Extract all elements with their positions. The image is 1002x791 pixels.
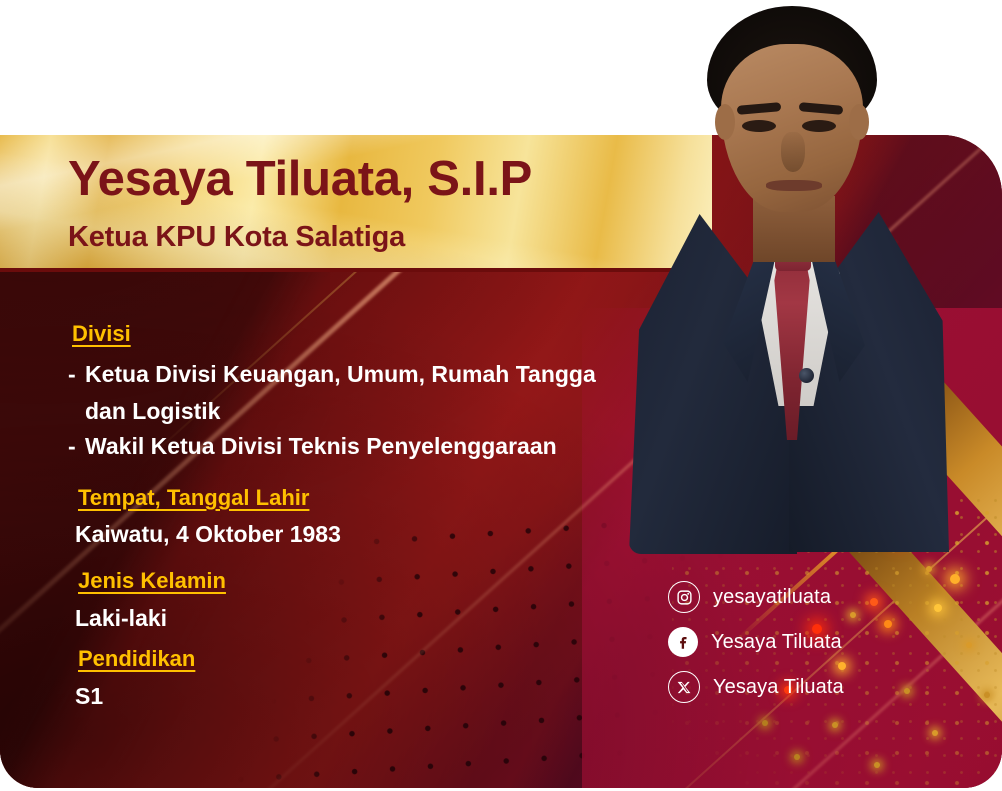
education-value: S1 (75, 683, 103, 710)
photo-ear-right (849, 104, 869, 140)
birth-label: Tempat, Tanggal Lahir (78, 485, 309, 511)
divisi-item-2: - Wakil Ketua Divisi Teknis Penyelenggar… (68, 433, 557, 460)
divisi-label: Divisi (72, 321, 131, 347)
social-row-facebook[interactable]: Yesaya Tiluata (668, 623, 844, 661)
photo-eye-right (802, 120, 836, 132)
divisi-item-1: - Ketua Divisi Keuangan, Umum, Rumah Tan… (68, 361, 596, 388)
facebook-handle: Yesaya Tiluata (711, 631, 842, 654)
social-links: yesayatiluata Yesaya Tiluata Yesaya Tilu… (668, 578, 844, 713)
instagram-handle: yesayatiluata (713, 586, 831, 609)
education-label: Pendidikan (78, 646, 195, 672)
page-subtitle: Ketua KPU Kota Salatiga (68, 223, 405, 252)
social-row-x[interactable]: Yesaya Tiluata (668, 668, 844, 706)
birth-value: Kaiwatu, 4 Oktober 1983 (75, 521, 341, 548)
x-twitter-icon[interactable] (668, 671, 700, 703)
divisi-item-1-line2-wrap: dan Logistik (85, 398, 220, 425)
gender-value: Laki-laki (75, 605, 167, 632)
divisi-item-1-line2: dan Logistik (85, 398, 220, 424)
facebook-icon[interactable] (668, 627, 698, 657)
photo-mouth (766, 180, 822, 191)
photo-nose (781, 132, 805, 172)
social-row-instagram[interactable]: yesayatiluata (668, 578, 844, 616)
photo-lapel-mic (799, 368, 814, 383)
photo-eye-left (742, 120, 776, 132)
profile-photo (603, 0, 933, 552)
bullet-dash: - (68, 433, 85, 460)
instagram-icon[interactable] (668, 581, 700, 613)
divisi-item-2-line1: Wakil Ketua Divisi Teknis Penyelenggaraa… (85, 433, 557, 460)
bullet-dash: - (68, 361, 85, 388)
photo-ear-left (715, 104, 735, 140)
page-title: Yesaya Tiluata, S.I.P (68, 155, 532, 204)
x-handle: Yesaya Tiluata (713, 676, 844, 699)
gender-label: Jenis Kelamin (78, 568, 226, 594)
divisi-item-1-line1: Ketua Divisi Keuangan, Umum, Rumah Tangg… (85, 361, 596, 388)
